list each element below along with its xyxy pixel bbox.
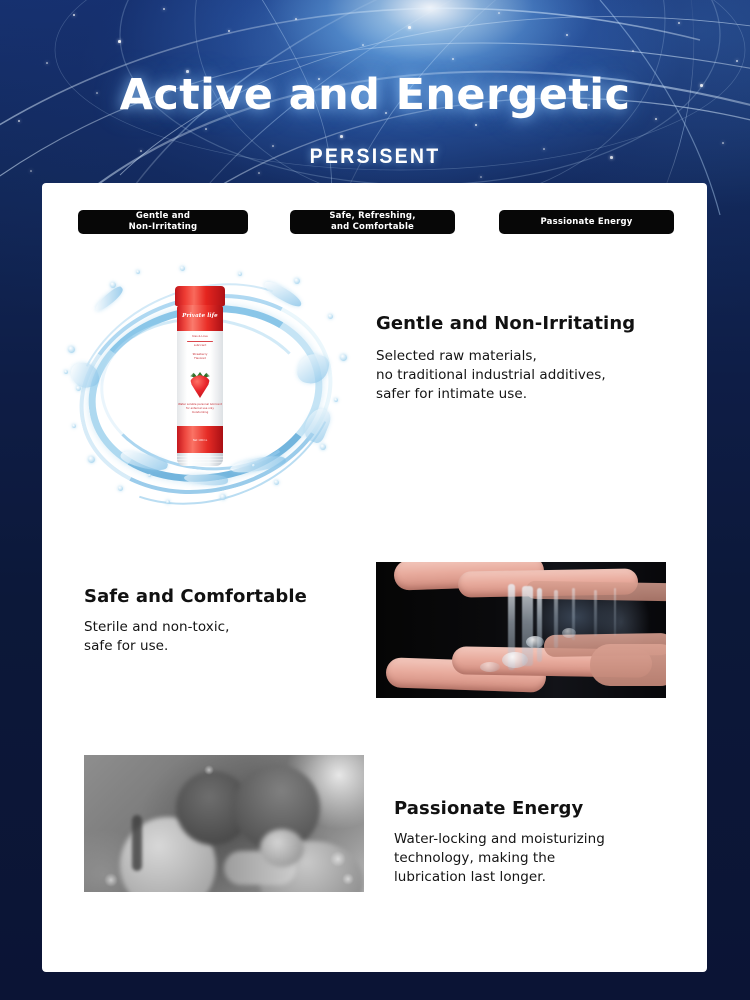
body-line: technology, making the (394, 849, 694, 868)
water-droplet (220, 494, 226, 500)
label-footer-2: for external use only (177, 407, 223, 410)
water-droplet (110, 282, 116, 288)
figure-hand (260, 829, 304, 867)
water-droplet (64, 370, 68, 374)
section-safe-text: Safe and Comfortable Sterile and non-tox… (84, 586, 364, 656)
body-line: lubrication last longer. (394, 868, 694, 887)
label-footer-1: Water soluble personal lubricant (177, 403, 223, 406)
body-line: Sterile and non-toxic, (84, 618, 364, 637)
palm (590, 644, 666, 686)
label-rule (187, 341, 213, 342)
badge-label-line2: Non-Irritating (129, 222, 198, 233)
bokeh-light (330, 851, 346, 867)
body-line: no traditional industrial additives, (376, 366, 686, 385)
badge-label-line1: Passionate Energy (540, 217, 632, 228)
tube-bottom-red-band: Net 100mL (177, 426, 223, 453)
water-droplet (166, 500, 170, 504)
water-droplet (340, 354, 347, 361)
water-droplet (180, 266, 185, 271)
bokeh-light (342, 873, 354, 885)
marketing-banner: Active and Energetic PERSISENT Gentle an… (0, 0, 750, 1000)
water-droplet (76, 386, 81, 391)
gel-strand (594, 590, 597, 636)
water-droplet (118, 486, 123, 491)
water-droplet (148, 474, 151, 477)
net-content-label: Net 100mL (177, 439, 223, 442)
badge-label-line2: and Comfortable (331, 222, 414, 233)
section-body: Sterile and non-toxic, safe for use. (84, 618, 364, 656)
tube-white-label: Kiss & Love Lubricant Strawberry Flavore… (177, 331, 223, 426)
gel-blob (502, 652, 528, 668)
badge-gentle-and-non-irritating[interactable]: Gentle and Non-Irritating (78, 210, 248, 234)
water-droplet (238, 272, 242, 276)
badge-label-line1: Safe, Refreshing, (329, 211, 415, 222)
section-passionate-text: Passionate Energy Water-locking and mois… (394, 798, 694, 887)
gel-strand (537, 588, 542, 662)
water-droplet (88, 456, 95, 463)
water-droplet (68, 346, 75, 353)
label-line-3: Strawberry (177, 353, 223, 356)
label-line-4: Flavored (177, 357, 223, 360)
water-droplet (136, 270, 140, 274)
label-line-1: Kiss & Love (177, 335, 223, 338)
body-line: Water-locking and moisturizing (394, 830, 694, 849)
water-droplet (72, 424, 76, 428)
tube-base-seal (177, 453, 223, 466)
gel-blob (480, 662, 500, 672)
feature-badge-row: Gentle and Non-Irritating Safe, Refreshi… (42, 183, 707, 243)
water-droplet (334, 398, 338, 402)
gel-blob (526, 636, 544, 648)
water-droplet (252, 464, 255, 467)
section-heading: Passionate Energy (394, 798, 694, 819)
badge-label-line1: Gentle and (136, 211, 190, 222)
splash-tongue (93, 285, 126, 314)
section-body: Water-locking and moisturizing technolog… (394, 830, 694, 887)
water-droplet (328, 314, 333, 319)
tube-body: Private life Kiss & Love Lubricant Straw… (177, 305, 223, 466)
product-tube: Private life Kiss & Love Lubricant Straw… (174, 286, 226, 466)
strawberry-icon (190, 375, 210, 398)
product-brand-name: Private life (177, 313, 223, 319)
body-line: safe for use. (84, 637, 364, 656)
body-line: safer for intimate use. (376, 385, 686, 404)
hands-stretching-gel-photo (376, 562, 666, 698)
water-droplet (294, 278, 300, 284)
badge-safe-refreshing-comfortable[interactable]: Safe, Refreshing, and Comfortable (290, 210, 455, 234)
section-body: Selected raw materials, no traditional i… (376, 347, 686, 404)
couple-embrace-photo (84, 755, 364, 892)
section-heading: Gentle and Non-Irritating (376, 313, 686, 334)
label-footer-3: moisturizing (177, 411, 223, 414)
tube-cap (175, 286, 225, 306)
product-water-splash-image: Private life Kiss & Love Lubricant Straw… (62, 258, 362, 518)
gel-strand (554, 590, 558, 648)
water-droplet (274, 480, 279, 485)
bokeh-light (104, 873, 118, 887)
gel-blob (562, 628, 576, 638)
strap (132, 815, 142, 871)
gel-strand (614, 588, 616, 636)
water-droplet (320, 444, 326, 450)
section-gentle-text: Gentle and Non-Irritating Selected raw m… (376, 313, 686, 404)
body-line: Selected raw materials, (376, 347, 686, 366)
page-title: Active and Energetic (0, 70, 750, 120)
page-subtitle: PERSISENT (26, 145, 724, 169)
bokeh-light (204, 765, 214, 775)
label-line-2: Lubricant (177, 344, 223, 347)
content-card: Gentle and Non-Irritating Safe, Refreshi… (42, 183, 707, 972)
badge-passionate-energy[interactable]: Passionate Energy (499, 210, 674, 234)
section-heading: Safe and Comfortable (84, 586, 364, 607)
